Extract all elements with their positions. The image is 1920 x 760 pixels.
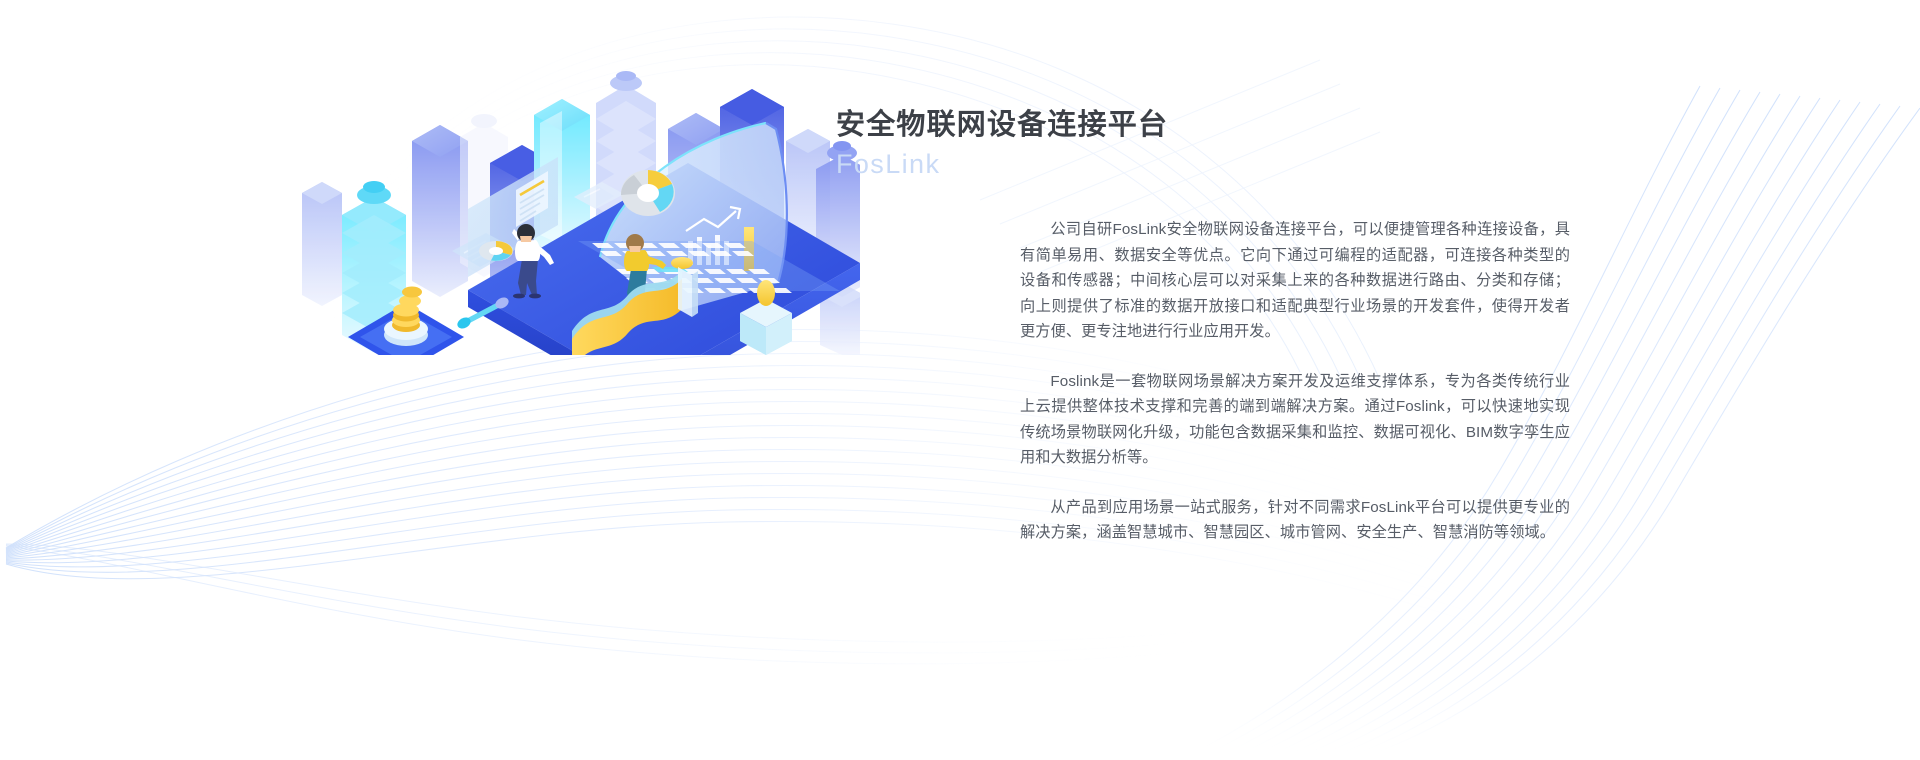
paragraph-3: 从产品到应用场景一站式服务，针对不同需求FosLink平台可以提供更专业的解决方…: [836, 495, 1570, 546]
paragraph-1: 公司自研FosLink安全物联网设备连接平台，可以便捷管理各种连接设备，具有简单…: [836, 217, 1570, 345]
page-subtitle: FosLink: [836, 146, 1576, 182]
paragraph-2: Foslink是一套物联网场景解决方案开发及运维支撑体系，专为各类传统行业上云提…: [836, 369, 1570, 471]
page-title: 安全物联网设备连接平台: [836, 106, 1576, 144]
isometric-smart-city-illustration: [300, 45, 860, 355]
donut-chart-small: [479, 241, 513, 261]
body-copy: 公司自研FosLink安全物联网设备连接平台，可以便捷管理各种连接设备，具有简单…: [836, 217, 1570, 546]
page-root: 安全物联网设备连接平台 FosLink 公司自研FosLink安全物联网设备连接…: [0, 0, 1920, 760]
hero-text-column: 安全物联网设备连接平台 FosLink 公司自研FosLink安全物联网设备连接…: [836, 106, 1576, 546]
donut-chart-large: [621, 170, 675, 216]
